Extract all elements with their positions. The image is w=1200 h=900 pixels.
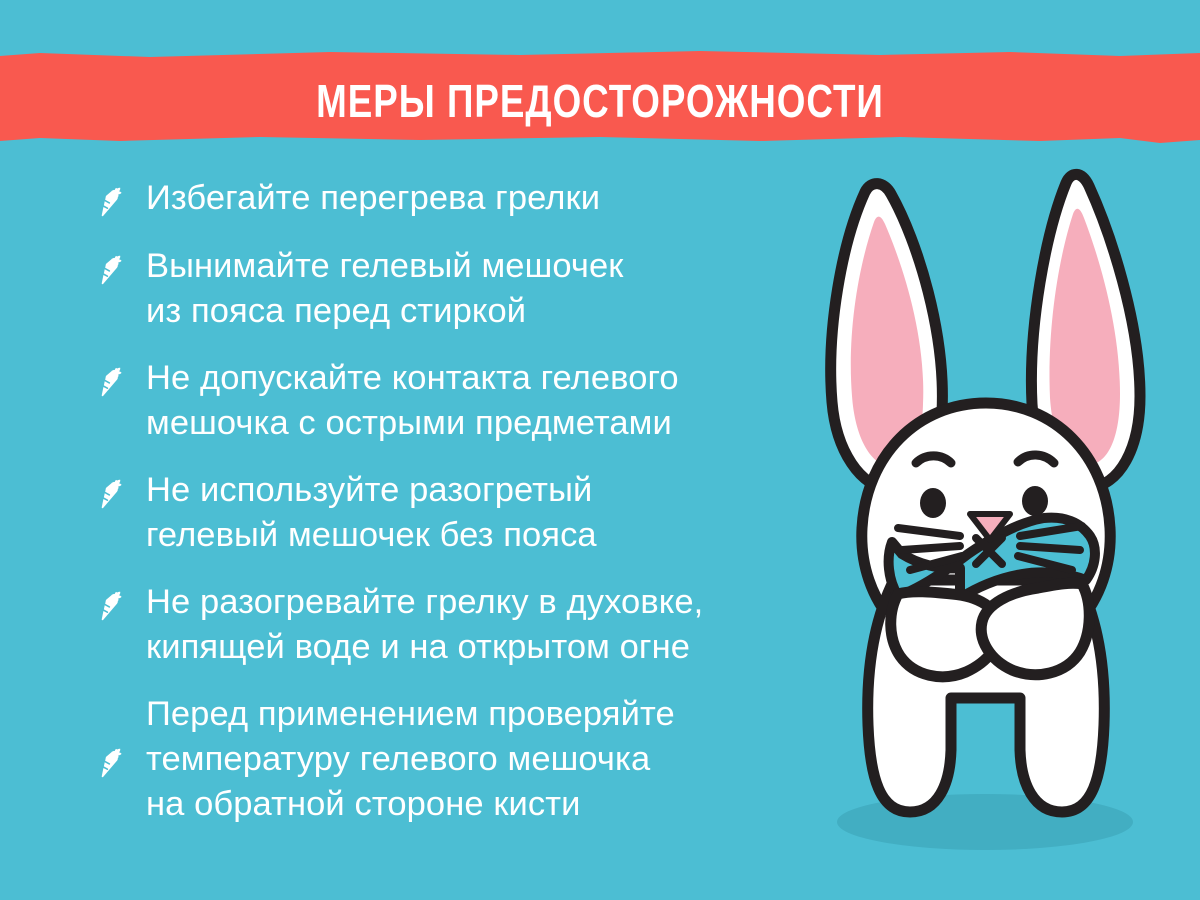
- precaution-text: Перед применением проверяйте температуру…: [146, 692, 675, 827]
- list-item: Вынимайте гелевый мешочек из пояса перед…: [84, 244, 784, 334]
- title-banner: МЕРЫ ПРЕДОСТОРОЖНОСТИ: [0, 42, 1200, 152]
- list-item: Не допускайте контакта гелевого мешочка …: [84, 356, 784, 446]
- page-title: МЕРЫ ПРЕДОСТОРОЖНОСТИ: [120, 42, 1080, 152]
- carrot-icon: [92, 181, 128, 217]
- precaution-text: Не допускайте контакта гелевого мешочка …: [146, 356, 679, 446]
- carrot-icon: [92, 742, 128, 778]
- right-eye: [1022, 486, 1048, 516]
- precaution-text: Не разогревайте грелку в духовке, кипяще…: [146, 580, 703, 670]
- carrot-icon: [92, 249, 128, 285]
- carrot-icon: [92, 585, 128, 621]
- list-item: Не используйте разогретый гелевый мешоче…: [84, 468, 784, 558]
- list-item: Избегайте перегрева грелки: [84, 176, 784, 222]
- left-eye: [920, 488, 946, 518]
- right-arm: [981, 583, 1089, 674]
- bunny-character: [770, 150, 1200, 880]
- list-item: Перед применением проверяйте температуру…: [84, 692, 784, 827]
- precaution-text: Вынимайте гелевый мешочек из пояса перед…: [146, 244, 623, 334]
- precautions-poster: МЕРЫ ПРЕДОСТОРОЖНОСТИ Избегайте перегрев…: [0, 0, 1200, 900]
- precaution-text: Не используйте разогретый гелевый мешоче…: [146, 468, 597, 558]
- carrot-icon: [92, 473, 128, 509]
- carrot-icon: [92, 361, 128, 397]
- precaution-text: Избегайте перегрева грелки: [146, 176, 600, 221]
- precautions-list: Избегайте перегрева грелки Вынимайте гел…: [84, 176, 784, 849]
- list-item: Не разогревайте грелку в духовке, кипяще…: [84, 580, 784, 670]
